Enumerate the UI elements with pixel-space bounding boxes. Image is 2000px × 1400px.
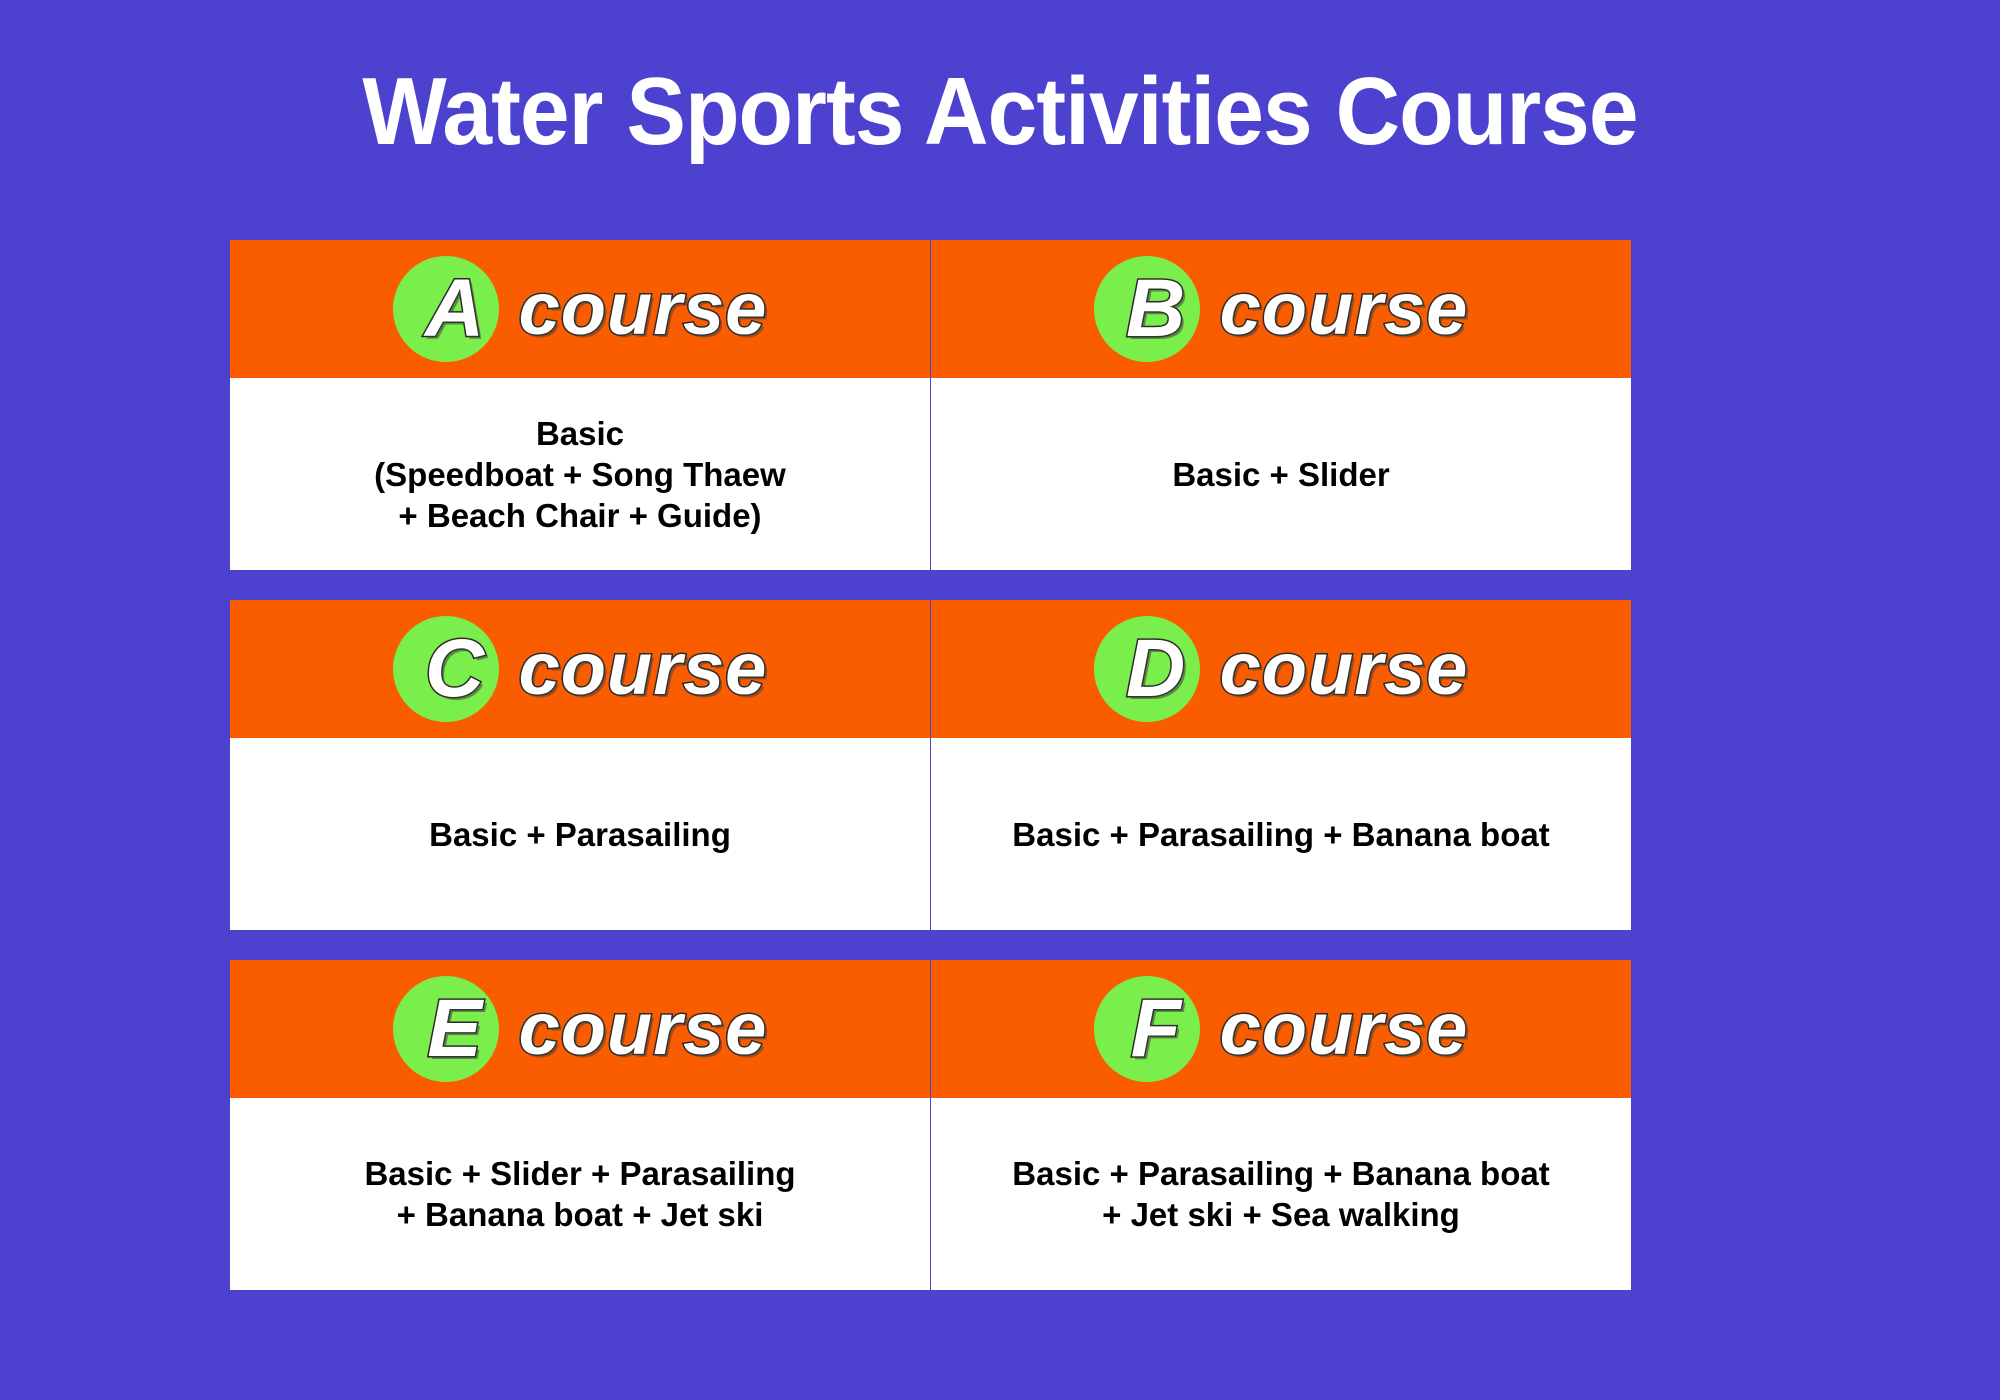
course-card-c-body: Basic + Parasailing <box>230 738 930 930</box>
course-letter-b: B <box>1126 256 1185 362</box>
course-card-a-header: A course <box>230 240 930 378</box>
course-card-d-body: Basic + Parasailing + Banana boat <box>931 738 1631 930</box>
course-card-a-body: Basic (Speedboat + Song Thaew + Beach Ch… <box>230 378 930 570</box>
course-card-a[interactable]: A course Basic (Speedboat + Song Thaew +… <box>230 240 930 570</box>
course-badge-d: D <box>1094 616 1200 722</box>
course-card-d[interactable]: D course Basic + Parasailing + Banana bo… <box>931 600 1631 930</box>
course-card-b-body: Basic + Slider <box>931 378 1631 570</box>
course-card-e[interactable]: E course Basic + Slider + Parasailing + … <box>230 960 930 1290</box>
course-word-f: course <box>1220 976 1469 1082</box>
page-title: Water Sports Activities Course <box>70 52 1930 172</box>
course-card-c[interactable]: C course Basic + Parasailing <box>230 600 930 930</box>
course-description-b: Basic + Slider <box>1172 454 1389 495</box>
course-letter-a: A <box>425 256 484 362</box>
course-badge-e: E <box>393 976 499 1082</box>
course-word-e: course <box>519 976 768 1082</box>
course-badge-a: A <box>393 256 499 362</box>
course-letter-f: F <box>1131 976 1181 1082</box>
course-card-f-header: F course <box>931 960 1631 1098</box>
course-card-e-header: E course <box>230 960 930 1098</box>
course-badge-c: C <box>393 616 499 722</box>
course-description-e: Basic + Slider + Parasailing + Banana bo… <box>364 1153 795 1235</box>
course-letter-d: D <box>1126 616 1185 722</box>
course-description-c: Basic + Parasailing <box>429 814 731 855</box>
course-word-b: course <box>1220 256 1469 362</box>
course-badge-f: F <box>1094 976 1200 1082</box>
course-card-b[interactable]: B course Basic + Slider <box>931 240 1631 570</box>
course-badge-b: B <box>1094 256 1200 362</box>
course-word-c: course <box>519 616 768 722</box>
course-description-a: Basic (Speedboat + Song Thaew + Beach Ch… <box>374 413 786 536</box>
course-letter-c: C <box>425 616 484 722</box>
course-card-e-body: Basic + Slider + Parasailing + Banana bo… <box>230 1098 930 1290</box>
course-word-a: course <box>519 256 768 362</box>
course-description-d: Basic + Parasailing + Banana boat <box>1012 814 1549 855</box>
course-word-d: course <box>1220 616 1469 722</box>
course-card-b-header: B course <box>931 240 1631 378</box>
course-description-f: Basic + Parasailing + Banana boat + Jet … <box>1012 1153 1549 1235</box>
course-card-f[interactable]: F course Basic + Parasailing + Banana bo… <box>931 960 1631 1290</box>
course-card-d-header: D course <box>931 600 1631 738</box>
course-card-f-body: Basic + Parasailing + Banana boat + Jet … <box>931 1098 1631 1290</box>
course-card-grid: A course Basic (Speedboat + Song Thaew +… <box>230 240 1775 1290</box>
course-letter-e: E <box>427 976 482 1082</box>
course-card-c-header: C course <box>230 600 930 738</box>
